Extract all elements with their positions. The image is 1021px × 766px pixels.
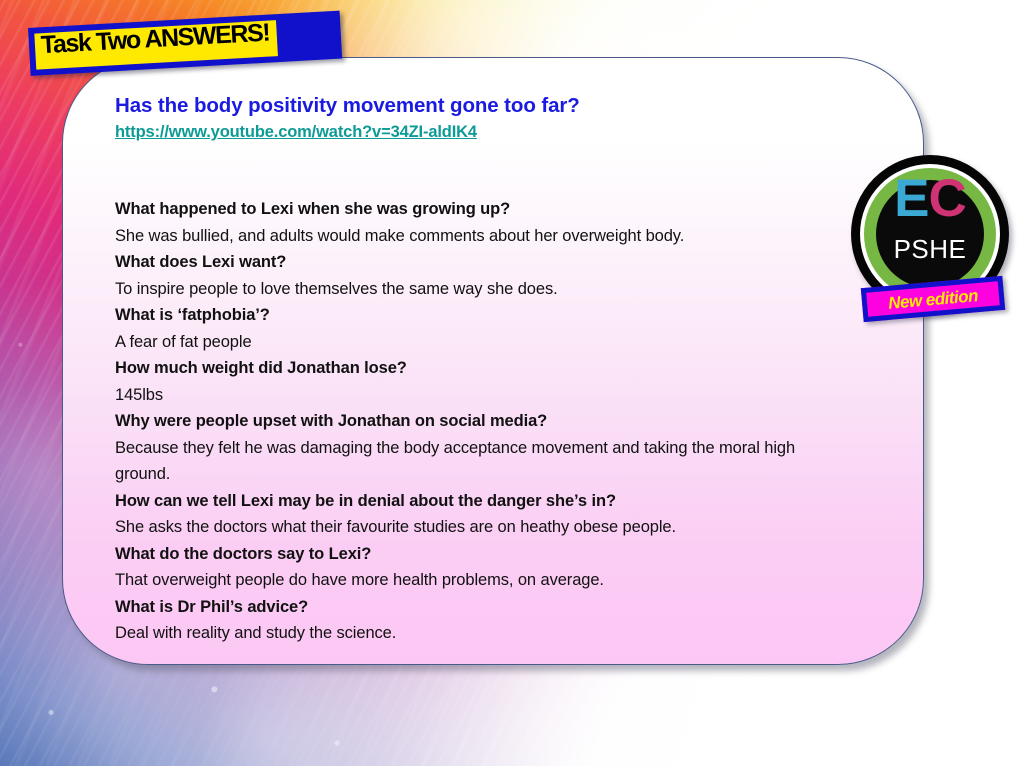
qa-answer: 145lbs — [115, 382, 820, 409]
qa-question: What is ‘fatphobia’? — [115, 302, 883, 329]
content-card: Has the body positivity movement gone to… — [62, 57, 924, 665]
qa-question: How can we tell Lexi may be in denial ab… — [115, 488, 883, 515]
qa-answer: A fear of fat people — [115, 329, 820, 356]
qa-answer: She asks the doctors what their favourit… — [115, 514, 820, 541]
slide-canvas: Has the body positivity movement gone to… — [0, 0, 1021, 766]
qa-question: Why were people upset with Jonathan on s… — [115, 408, 883, 435]
logo-subtitle: PSHE — [851, 234, 1009, 265]
qa-answer: Because they felt he was damaging the bo… — [115, 435, 820, 488]
card-content: Has the body positivity movement gone to… — [115, 94, 883, 647]
qa-question: What do the doctors say to Lexi? — [115, 541, 883, 568]
qa-answer: To inspire people to love themselves the… — [115, 276, 820, 303]
new-edition-label: New edition — [866, 284, 999, 315]
qa-question: What is Dr Phil’s advice? — [115, 594, 883, 621]
qa-question: How much weight did Jonathan lose? — [115, 355, 883, 382]
qa-answer: She was bullied, and adults would make c… — [115, 223, 820, 250]
logo-letter-c: C — [929, 169, 966, 228]
qa-answer: Deal with reality and study the science. — [115, 620, 820, 647]
video-link[interactable]: https://www.youtube.com/watch?v=34ZI-ald… — [115, 123, 477, 142]
qa-list: What happened to Lexi when she was growi… — [115, 196, 883, 647]
qa-question: What does Lexi want? — [115, 249, 883, 276]
page-title: Has the body positivity movement gone to… — [115, 94, 883, 118]
logo-ec-letters: EC — [851, 169, 1009, 229]
logo-letter-e: E — [894, 169, 928, 228]
qa-answer: That overweight people do have more heal… — [115, 567, 820, 594]
qa-question: What happened to Lexi when she was growi… — [115, 196, 883, 223]
